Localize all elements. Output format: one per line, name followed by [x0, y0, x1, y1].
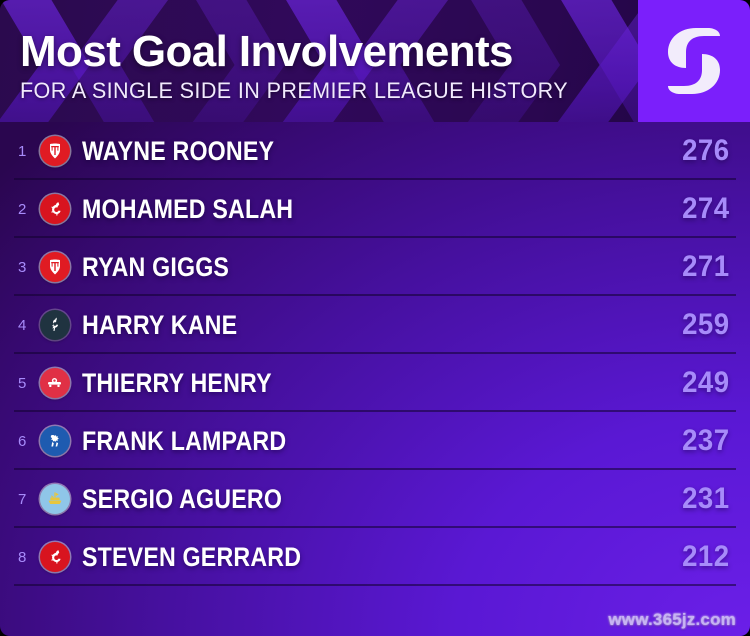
table-row[interactable]: 5 THIERRY HENRY 249	[0, 354, 750, 412]
cannon-crest-icon	[40, 368, 70, 398]
table-row[interactable]: 1 WAYNE ROONEY 276	[0, 122, 750, 180]
player-value: 237	[683, 424, 730, 458]
rank-number: 8	[18, 549, 40, 566]
header: Most Goal Involvements FOR A SINGLE SIDE…	[0, 0, 750, 122]
ship-crest-icon	[40, 484, 70, 514]
rank-number: 1	[18, 143, 40, 160]
liver-bird-crest-icon	[40, 542, 70, 572]
player-name: MOHAMED SALAH	[82, 194, 595, 225]
infographic-card: Most Goal Involvements FOR A SINGLE SIDE…	[0, 0, 750, 636]
devil-trident-crest-icon	[40, 252, 70, 282]
player-value: 259	[683, 308, 730, 342]
player-value: 274	[683, 192, 730, 226]
player-value: 231	[683, 482, 730, 516]
player-value: 249	[683, 366, 730, 400]
table-row[interactable]: 2 MOHAMED SALAH 274	[0, 180, 750, 238]
table-row[interactable]: 8 STEVEN GERRARD 212	[0, 528, 750, 586]
table-row[interactable]: 7 SERGIO AGUERO 231	[0, 470, 750, 528]
cockerel-crest-icon	[40, 310, 70, 340]
player-name: RYAN GIGGS	[82, 252, 595, 283]
player-name: WAYNE ROONEY	[82, 136, 595, 167]
player-value: 276	[683, 134, 730, 168]
rank-number: 5	[18, 375, 40, 392]
squawka-s-logo-icon	[664, 26, 724, 96]
table-row[interactable]: 6 FRANK LAMPARD 237	[0, 412, 750, 470]
table-row[interactable]: 4 HARRY KANE 259	[0, 296, 750, 354]
player-value: 212	[683, 540, 730, 574]
liver-bird-crest-icon	[40, 194, 70, 224]
player-name: STEVEN GERRARD	[82, 542, 595, 573]
rank-number: 6	[18, 433, 40, 450]
page-subtitle: FOR A SINGLE SIDE IN PREMIER LEAGUE HIST…	[20, 80, 626, 102]
rank-number: 3	[18, 259, 40, 276]
table-row[interactable]: 3 RYAN GIGGS 271	[0, 238, 750, 296]
ranking-list: 1 WAYNE ROONEY 276 2 MOHAMED SALAH 274 3…	[0, 122, 750, 586]
player-name: FRANK LAMPARD	[82, 426, 595, 457]
brand-logo	[638, 0, 750, 122]
player-name: HARRY KANE	[82, 310, 595, 341]
watermark: www.365jz.com	[608, 610, 736, 630]
rank-number: 4	[18, 317, 40, 334]
devil-trident-crest-icon	[40, 136, 70, 166]
rank-number: 7	[18, 491, 40, 508]
rank-number: 2	[18, 201, 40, 218]
player-name: THIERRY HENRY	[82, 368, 595, 399]
player-name: SERGIO AGUERO	[82, 484, 595, 515]
page-title: Most Goal Involvements	[20, 30, 638, 74]
header-text-block: Most Goal Involvements FOR A SINGLE SIDE…	[0, 0, 638, 122]
lion-crest-icon	[40, 426, 70, 456]
player-value: 271	[683, 250, 730, 284]
